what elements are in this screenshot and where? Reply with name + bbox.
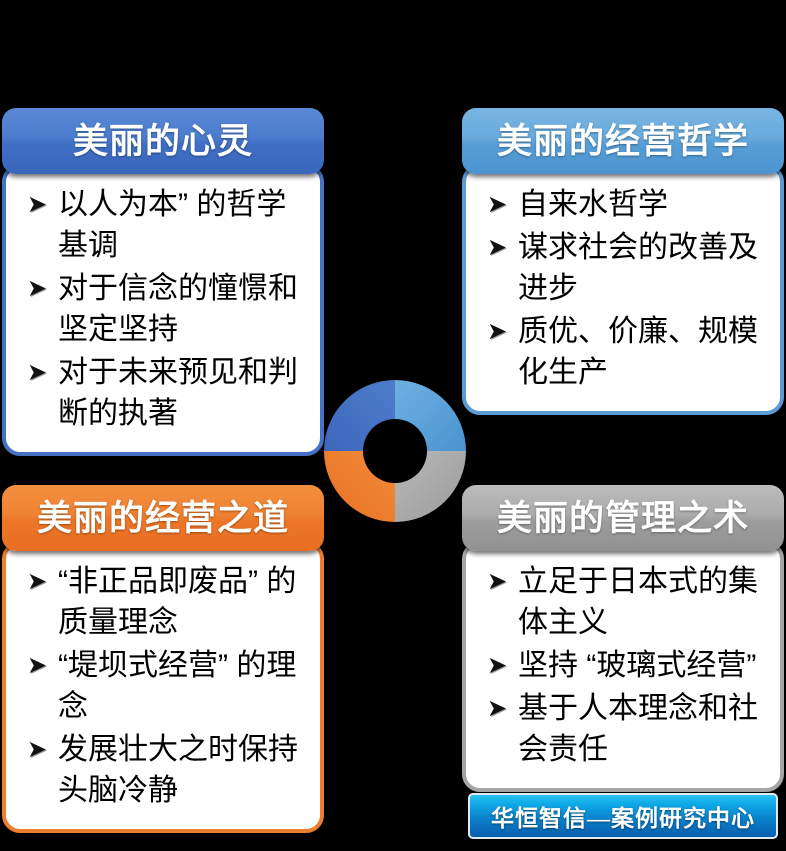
arrow-bullet-icon: ➤	[16, 352, 58, 393]
card-title-bottom-left: 美丽的经营之道	[37, 501, 289, 536]
card-header-top-right[interactable]: 美丽的经营哲学	[462, 108, 784, 174]
list-item-text: 谋求社会的改善及进步	[518, 227, 770, 309]
arrow-bullet-icon: ➤	[476, 184, 518, 225]
list-item-text: 自来水哲学	[518, 184, 770, 225]
arrow-bullet-icon: ➤	[476, 561, 518, 602]
donut-hole	[363, 419, 427, 483]
arrow-bullet-icon: ➤	[476, 311, 518, 352]
list-item: ➤ 谋求社会的改善及进步	[476, 227, 770, 309]
list-item: ➤ 坚持 “玻璃式经营”	[476, 645, 770, 686]
card-body-bottom-left: ➤ “非正品即废品” 的质量理念 ➤ “堤坝式经营” 的理念 ➤ 发展壮大之时保…	[2, 541, 324, 833]
bullet-list-bottom-right: ➤ 立足于日本式的集体主义 ➤ 坚持 “玻璃式经营” ➤ 基于人本理念和社会责任	[476, 561, 770, 770]
list-item-text: 坚持 “玻璃式经营”	[518, 645, 770, 686]
arrow-bullet-icon: ➤	[476, 645, 518, 686]
bullet-list-top-right: ➤ 自来水哲学 ➤ 谋求社会的改善及进步 ➤ 质优、价廉、规模化生产	[476, 184, 770, 393]
footer-brand-label: 华恒智信—案例研究中心	[491, 799, 755, 833]
list-item: ➤ 基于人本理念和社会责任	[476, 688, 770, 770]
list-item-text: 立足于日本式的集体主义	[518, 561, 770, 643]
list-item-text: 对于未来预见和判断的执著	[58, 352, 310, 434]
card-header-bottom-left[interactable]: 美丽的经营之道	[2, 485, 324, 551]
quadrant-card-bottom-left: 美丽的经营之道 ➤ “非正品即废品” 的质量理念 ➤ “堤坝式经营” 的理念 ➤…	[2, 485, 324, 833]
list-item-text: 发展壮大之时保持头脑冷静	[58, 729, 310, 811]
quadrant-card-top-left: 美丽的心灵 ➤ 以人为本” 的哲学基调 ➤ 对于信念的憧憬和坚定坚持 ➤ 对于未…	[2, 108, 324, 456]
card-title-top-right: 美丽的经营哲学	[497, 124, 749, 159]
arrow-bullet-icon: ➤	[476, 688, 518, 729]
slide-canvas: 美丽的心灵 ➤ 以人为本” 的哲学基调 ➤ 对于信念的憧憬和坚定坚持 ➤ 对于未…	[0, 0, 786, 851]
list-item: ➤ 立足于日本式的集体主义	[476, 561, 770, 643]
bullet-list-top-left: ➤ 以人为本” 的哲学基调 ➤ 对于信念的憧憬和坚定坚持 ➤ 对于未来预见和判断…	[16, 184, 310, 434]
list-item: ➤ 对于信念的憧憬和坚定坚持	[16, 268, 310, 350]
list-item: ➤ 发展壮大之时保持头脑冷静	[16, 729, 310, 811]
list-item: ➤ 自来水哲学	[476, 184, 770, 225]
list-item: ➤ “堤坝式经营” 的理念	[16, 645, 310, 727]
list-item-text: 对于信念的憧憬和坚定坚持	[58, 268, 310, 350]
list-item-text: 质优、价廉、规模化生产	[518, 311, 770, 393]
arrow-bullet-icon: ➤	[16, 645, 58, 686]
bullet-list-bottom-left: ➤ “非正品即废品” 的质量理念 ➤ “堤坝式经营” 的理念 ➤ 发展壮大之时保…	[16, 561, 310, 811]
card-title-top-left: 美丽的心灵	[73, 124, 253, 159]
list-item: ➤ 对于未来预见和判断的执著	[16, 352, 310, 434]
list-item: ➤ 质优、价廉、规模化生产	[476, 311, 770, 393]
list-item-text: 基于人本理念和社会责任	[518, 688, 770, 770]
donut-chart-svg	[322, 380, 468, 522]
arrow-bullet-icon: ➤	[16, 184, 58, 225]
card-body-top-left: ➤ 以人为本” 的哲学基调 ➤ 对于信念的憧憬和坚定坚持 ➤ 对于未来预见和判断…	[2, 164, 324, 456]
quadrant-card-top-right: 美丽的经营哲学 ➤ 自来水哲学 ➤ 谋求社会的改善及进步 ➤ 质优、价廉、规模化…	[462, 108, 784, 415]
card-title-bottom-right: 美丽的管理之术	[497, 501, 749, 536]
list-item: ➤ 以人为本” 的哲学基调	[16, 184, 310, 266]
arrow-bullet-icon: ➤	[16, 561, 58, 602]
card-body-top-right: ➤ 自来水哲学 ➤ 谋求社会的改善及进步 ➤ 质优、价廉、规模化生产	[462, 164, 784, 415]
list-item-text: “堤坝式经营” 的理念	[58, 645, 310, 727]
list-item-text: “非正品即废品” 的质量理念	[58, 561, 310, 643]
list-item: ➤ “非正品即废品” 的质量理念	[16, 561, 310, 643]
card-body-bottom-right: ➤ 立足于日本式的集体主义 ➤ 坚持 “玻璃式经营” ➤ 基于人本理念和社会责任	[462, 541, 784, 792]
arrow-bullet-icon: ➤	[16, 268, 58, 309]
arrow-bullet-icon: ➤	[476, 227, 518, 268]
footer-brand-badge[interactable]: 华恒智信—案例研究中心	[468, 793, 778, 839]
center-donut-chart	[322, 380, 468, 522]
list-item-text: 以人为本” 的哲学基调	[58, 184, 310, 266]
card-header-top-left[interactable]: 美丽的心灵	[2, 108, 324, 174]
quadrant-card-bottom-right: 美丽的管理之术 ➤ 立足于日本式的集体主义 ➤ 坚持 “玻璃式经营” ➤ 基于人…	[462, 485, 784, 792]
card-header-bottom-right[interactable]: 美丽的管理之术	[462, 485, 784, 551]
arrow-bullet-icon: ➤	[16, 729, 58, 770]
